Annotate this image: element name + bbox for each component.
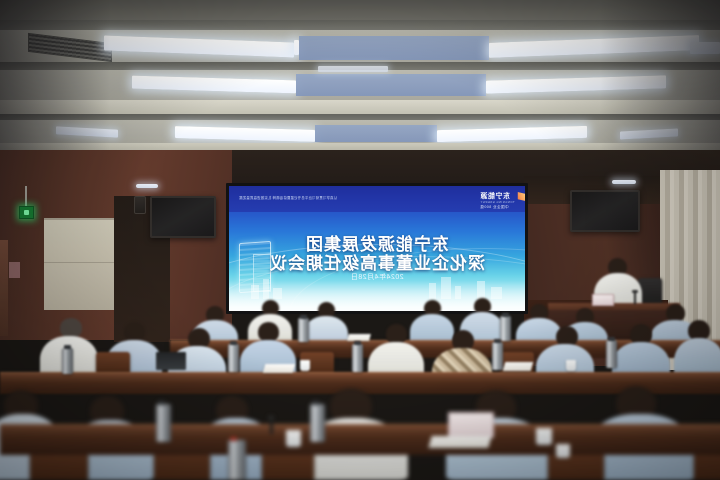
- vacuum-flask-icon: [228, 440, 246, 480]
- logo-name-cn: 东宁能源: [480, 191, 515, 201]
- ceiling-accent-panel: [315, 125, 437, 142]
- ceiling-accent-panel: [299, 36, 489, 60]
- name-card-icon: [592, 294, 614, 306]
- right-wall-monitor-icon: [570, 190, 640, 232]
- document-icon: [263, 364, 296, 373]
- vacuum-flask-icon: [298, 318, 309, 342]
- screen-headline-line2: 深化企业董事高级任期会议: [229, 249, 525, 274]
- document-icon: [347, 334, 371, 341]
- document-icon: [428, 436, 491, 448]
- paper-cup-icon: [300, 360, 310, 371]
- left-wall-monitor-icon: [150, 196, 216, 238]
- microphone-icon: [270, 418, 273, 434]
- screen-logo: 东宁能源 TONGNING ENERGY 中国企业 500强: [480, 191, 515, 210]
- document-icon: [503, 362, 534, 371]
- name-card-icon: [448, 412, 494, 438]
- vacuum-flask-icon: [62, 348, 73, 374]
- vacuum-flask-icon: [352, 344, 363, 372]
- wall-notice-plate: [9, 262, 20, 278]
- vacuum-flask-icon: [500, 316, 511, 341]
- vacuum-flask-icon: [492, 342, 503, 370]
- left-wall-acoustic-panel: [44, 218, 114, 310]
- emergency-exit-sign-icon: [19, 206, 34, 219]
- microphone-icon: [634, 292, 636, 304]
- ceiling-accent-panel: [296, 74, 486, 96]
- laptop-icon: [156, 352, 186, 370]
- presentation-screen: 认真学习贯彻习近平总书记重要讲话精神 扎实推进高质量发展 东宁能源 TONGNI…: [229, 186, 525, 311]
- vacuum-flask-icon: [310, 404, 325, 442]
- paper-cup-icon: [286, 430, 301, 447]
- paper-cup-icon: [566, 360, 576, 371]
- conference-room-photo: 认真学习贯彻习近平总书记重要讲话精神 扎实推进高质量发展 东宁能源 TONGNI…: [0, 0, 720, 480]
- screen-subline: 认真学习贯彻习近平总书记重要讲话精神 扎实推进高质量发展: [239, 195, 337, 200]
- vacuum-flask-icon: [606, 340, 617, 368]
- left-door-frame: [0, 240, 8, 336]
- logo-name-en: TONGNING ENERGY: [480, 201, 515, 204]
- vacuum-flask-icon: [228, 344, 239, 372]
- vacuum-flask-icon: [156, 404, 171, 442]
- paper-cup-icon: [536, 428, 552, 445]
- logo-tagline: 中国企业 500强: [480, 205, 515, 210]
- wall-speaker-icon: [134, 196, 146, 214]
- paper-cup-icon: [556, 444, 570, 458]
